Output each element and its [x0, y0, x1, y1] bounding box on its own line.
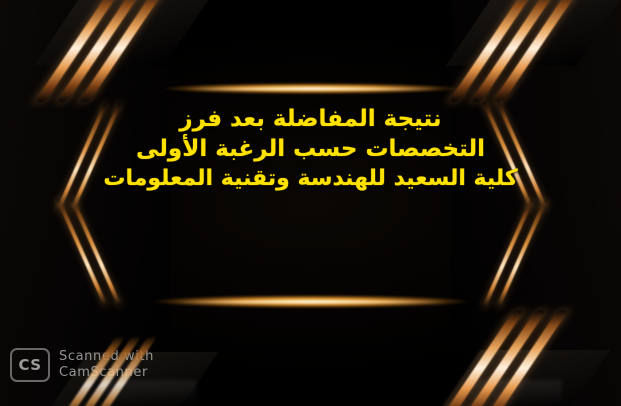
headline-line-3: كلية السعيد للهندسة وتقنية المعلومات [0, 164, 621, 194]
corner-stripes-bottom-right [470, 326, 566, 402]
corner-stripes-top-right [480, 6, 576, 82]
camscanner-watermark-text: Scanned with CamScanner [59, 349, 154, 381]
scanned-image-canvas: نتيجة المفاضلة بعد فرز التخصصات حسب الرغ… [0, 0, 621, 406]
corner-stripes-top-left [66, 6, 162, 82]
watermark-line-1: Scanned with [59, 349, 154, 365]
camscanner-logo-icon: CS [10, 348, 50, 382]
announcement-headline: نتيجة المفاضلة بعد فرز التخصصات حسب الرغ… [0, 104, 621, 194]
headline-line-2: التخصصات حسب الرغبة الأولى [0, 134, 621, 164]
headline-line-1: نتيجة المفاضلة بعد فرز [0, 104, 621, 134]
watermark-line-2: CamScanner [59, 365, 154, 381]
bottom-glow-bar [151, 295, 471, 308]
camscanner-watermark: CS Scanned with CamScanner [10, 348, 154, 382]
base-shadow-left [104, 380, 196, 406]
top-glow-bar [161, 83, 461, 94]
